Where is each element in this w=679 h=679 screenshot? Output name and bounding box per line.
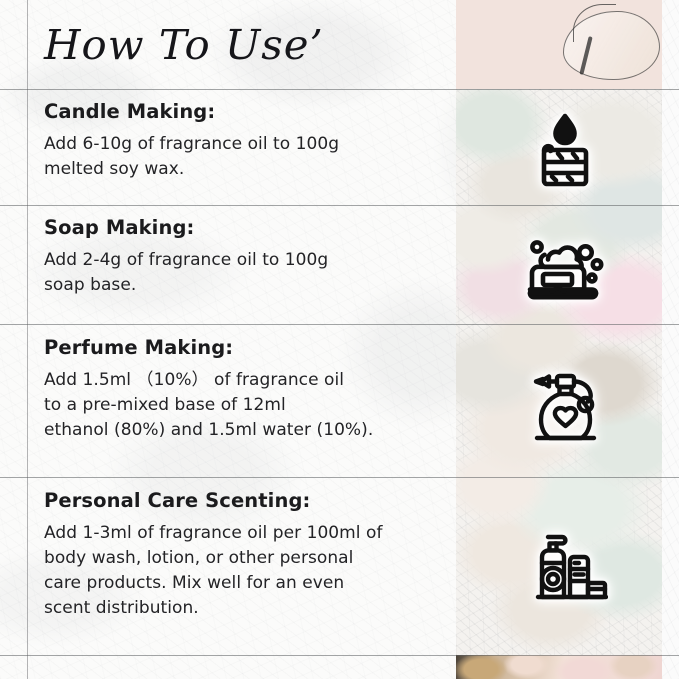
section-soap-making: Soap Making: Add 2-4g of fragrance oil t… — [28, 216, 456, 298]
butterfly-antenna-shape — [573, 4, 615, 42]
page-title: How To Use’ — [44, 21, 324, 69]
how-to-use-infographic: How To Use’ Candle Making: Add 6-10g of … — [0, 0, 679, 679]
perfume-bottle-icon-slot — [500, 355, 630, 465]
body-line: Add 2-4g of fragrance oil to 100g — [44, 248, 448, 273]
section-candle-making: Candle Making: Add 6-10g of fragrance oi… — [28, 100, 456, 182]
body-line: Add 1-3ml of fragrance oil per 100ml of — [44, 521, 448, 546]
right-margin-texture — [662, 0, 679, 679]
toiletries-icon-slot — [500, 510, 630, 620]
section-body-personal-care-scenting: Add 1-3ml of fragrance oil per 100ml of … — [44, 521, 448, 621]
soap-bar-icon — [522, 231, 608, 309]
perfume-bottle-icon — [521, 368, 609, 452]
body-line: ethanol (80%) and 1.5ml water (10%). — [44, 418, 448, 443]
body-line: scent distribution. — [44, 596, 448, 621]
section-personal-care-scenting: Personal Care Scenting: Add 1-3ml of fra… — [28, 489, 456, 621]
section-title-soap-making: Soap Making: — [44, 216, 448, 239]
section-body-perfume-making: Add 1.5ml （10%） of fragrance oil to a pr… — [44, 368, 448, 443]
candle-icon-slot — [500, 95, 630, 205]
section-title-perfume-making: Perfume Making: — [44, 336, 448, 359]
body-line: to a pre-mixed base of 12ml — [44, 393, 448, 418]
section-perfume-making: Perfume Making: Add 1.5ml （10%） of fragr… — [28, 336, 456, 443]
section-body-candle-making: Add 6-10g of fragrance oil to 100g melte… — [44, 132, 448, 182]
section-title-candle-making: Candle Making: — [44, 100, 448, 123]
header: How To Use’ — [28, 0, 456, 89]
candle-icon — [528, 110, 602, 190]
body-line: soap base. — [44, 273, 448, 298]
bottom-floral-illustration — [456, 655, 662, 679]
rose-butterfly-illustration — [456, 0, 662, 89]
body-line: care products. Mix well for an even — [44, 571, 448, 596]
body-line: melted soy wax. — [44, 157, 448, 182]
section-title-personal-care-scenting: Personal Care Scenting: — [44, 489, 448, 512]
body-line: Add 1.5ml （10%） of fragrance oil — [44, 368, 448, 393]
section-body-soap-making: Add 2-4g of fragrance oil to 100g soap b… — [44, 248, 448, 298]
toiletries-icon — [522, 523, 608, 607]
soap-bar-icon-slot — [500, 215, 630, 325]
body-line: body wash, lotion, or other personal — [44, 546, 448, 571]
body-line: Add 6-10g of fragrance oil to 100g — [44, 132, 448, 157]
